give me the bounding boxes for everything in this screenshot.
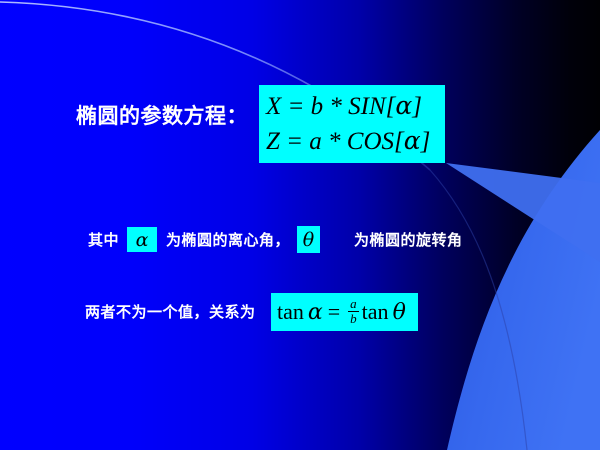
equation-line-1: X = b * SIN[α] [266, 89, 422, 125]
alpha-symbol-box: α [127, 227, 157, 252]
presentation-slide: 椭圆的参数方程： X = b * SIN[α] Z = a * COS[α] 其… [0, 0, 600, 450]
theta-symbol-box: θ [297, 226, 320, 253]
definition-prefix: 其中 [88, 229, 119, 250]
bracket-close-1: ] [412, 93, 422, 120]
definition-row: 其中 α 为椭圆的离心角， θ 为椭圆的旋转角 [88, 226, 463, 253]
fraction-a-over-b: a b [348, 297, 359, 325]
multiply-sign-1: * [329, 93, 342, 120]
equation-lhs-x: X [266, 93, 281, 120]
bracket-close-2: ] [421, 128, 431, 155]
title-row: 椭圆的参数方程： [76, 100, 248, 130]
tangent-equation-box: tan α = a b tan θ [271, 293, 418, 331]
tan-function-2: tan [362, 299, 389, 325]
equals-sign-tan: = [328, 299, 340, 325]
relation-label: 两者不为一个值，关系为 [85, 301, 256, 322]
variable-a: a [309, 128, 322, 155]
fraction-numerator: a [348, 297, 359, 310]
background-decoration [0, 0, 600, 450]
variable-b: b [311, 93, 324, 120]
main-equation-box: X = b * SIN[α] Z = a * COS[α] [259, 85, 445, 163]
equals-sign-2: = [286, 128, 303, 155]
theta-symbol-tan: θ [393, 300, 406, 325]
fraction-denominator: b [348, 311, 359, 325]
alpha-symbol-tan: α [308, 300, 323, 325]
relation-row: 两者不为一个值，关系为 [85, 301, 256, 322]
bracket-open-2: [ [394, 128, 404, 155]
alpha-symbol-eq1: α [395, 91, 412, 120]
function-sin: SIN [348, 93, 386, 120]
equation-lhs-z: Z [266, 128, 280, 155]
function-cos: COS [347, 128, 394, 155]
alpha-symbol-eq2: α [404, 126, 421, 155]
multiply-sign-2: * [328, 128, 341, 155]
page-title: 椭圆的参数方程： [76, 100, 248, 130]
equals-sign-1: = [288, 93, 305, 120]
bracket-open-1: [ [386, 93, 396, 120]
definition-middle: 为椭圆的离心角， [166, 229, 290, 250]
tan-function-1: tan [277, 299, 304, 325]
equation-line-2: Z = a * COS[α] [266, 124, 430, 160]
definition-suffix: 为椭圆的旋转角 [354, 229, 463, 250]
